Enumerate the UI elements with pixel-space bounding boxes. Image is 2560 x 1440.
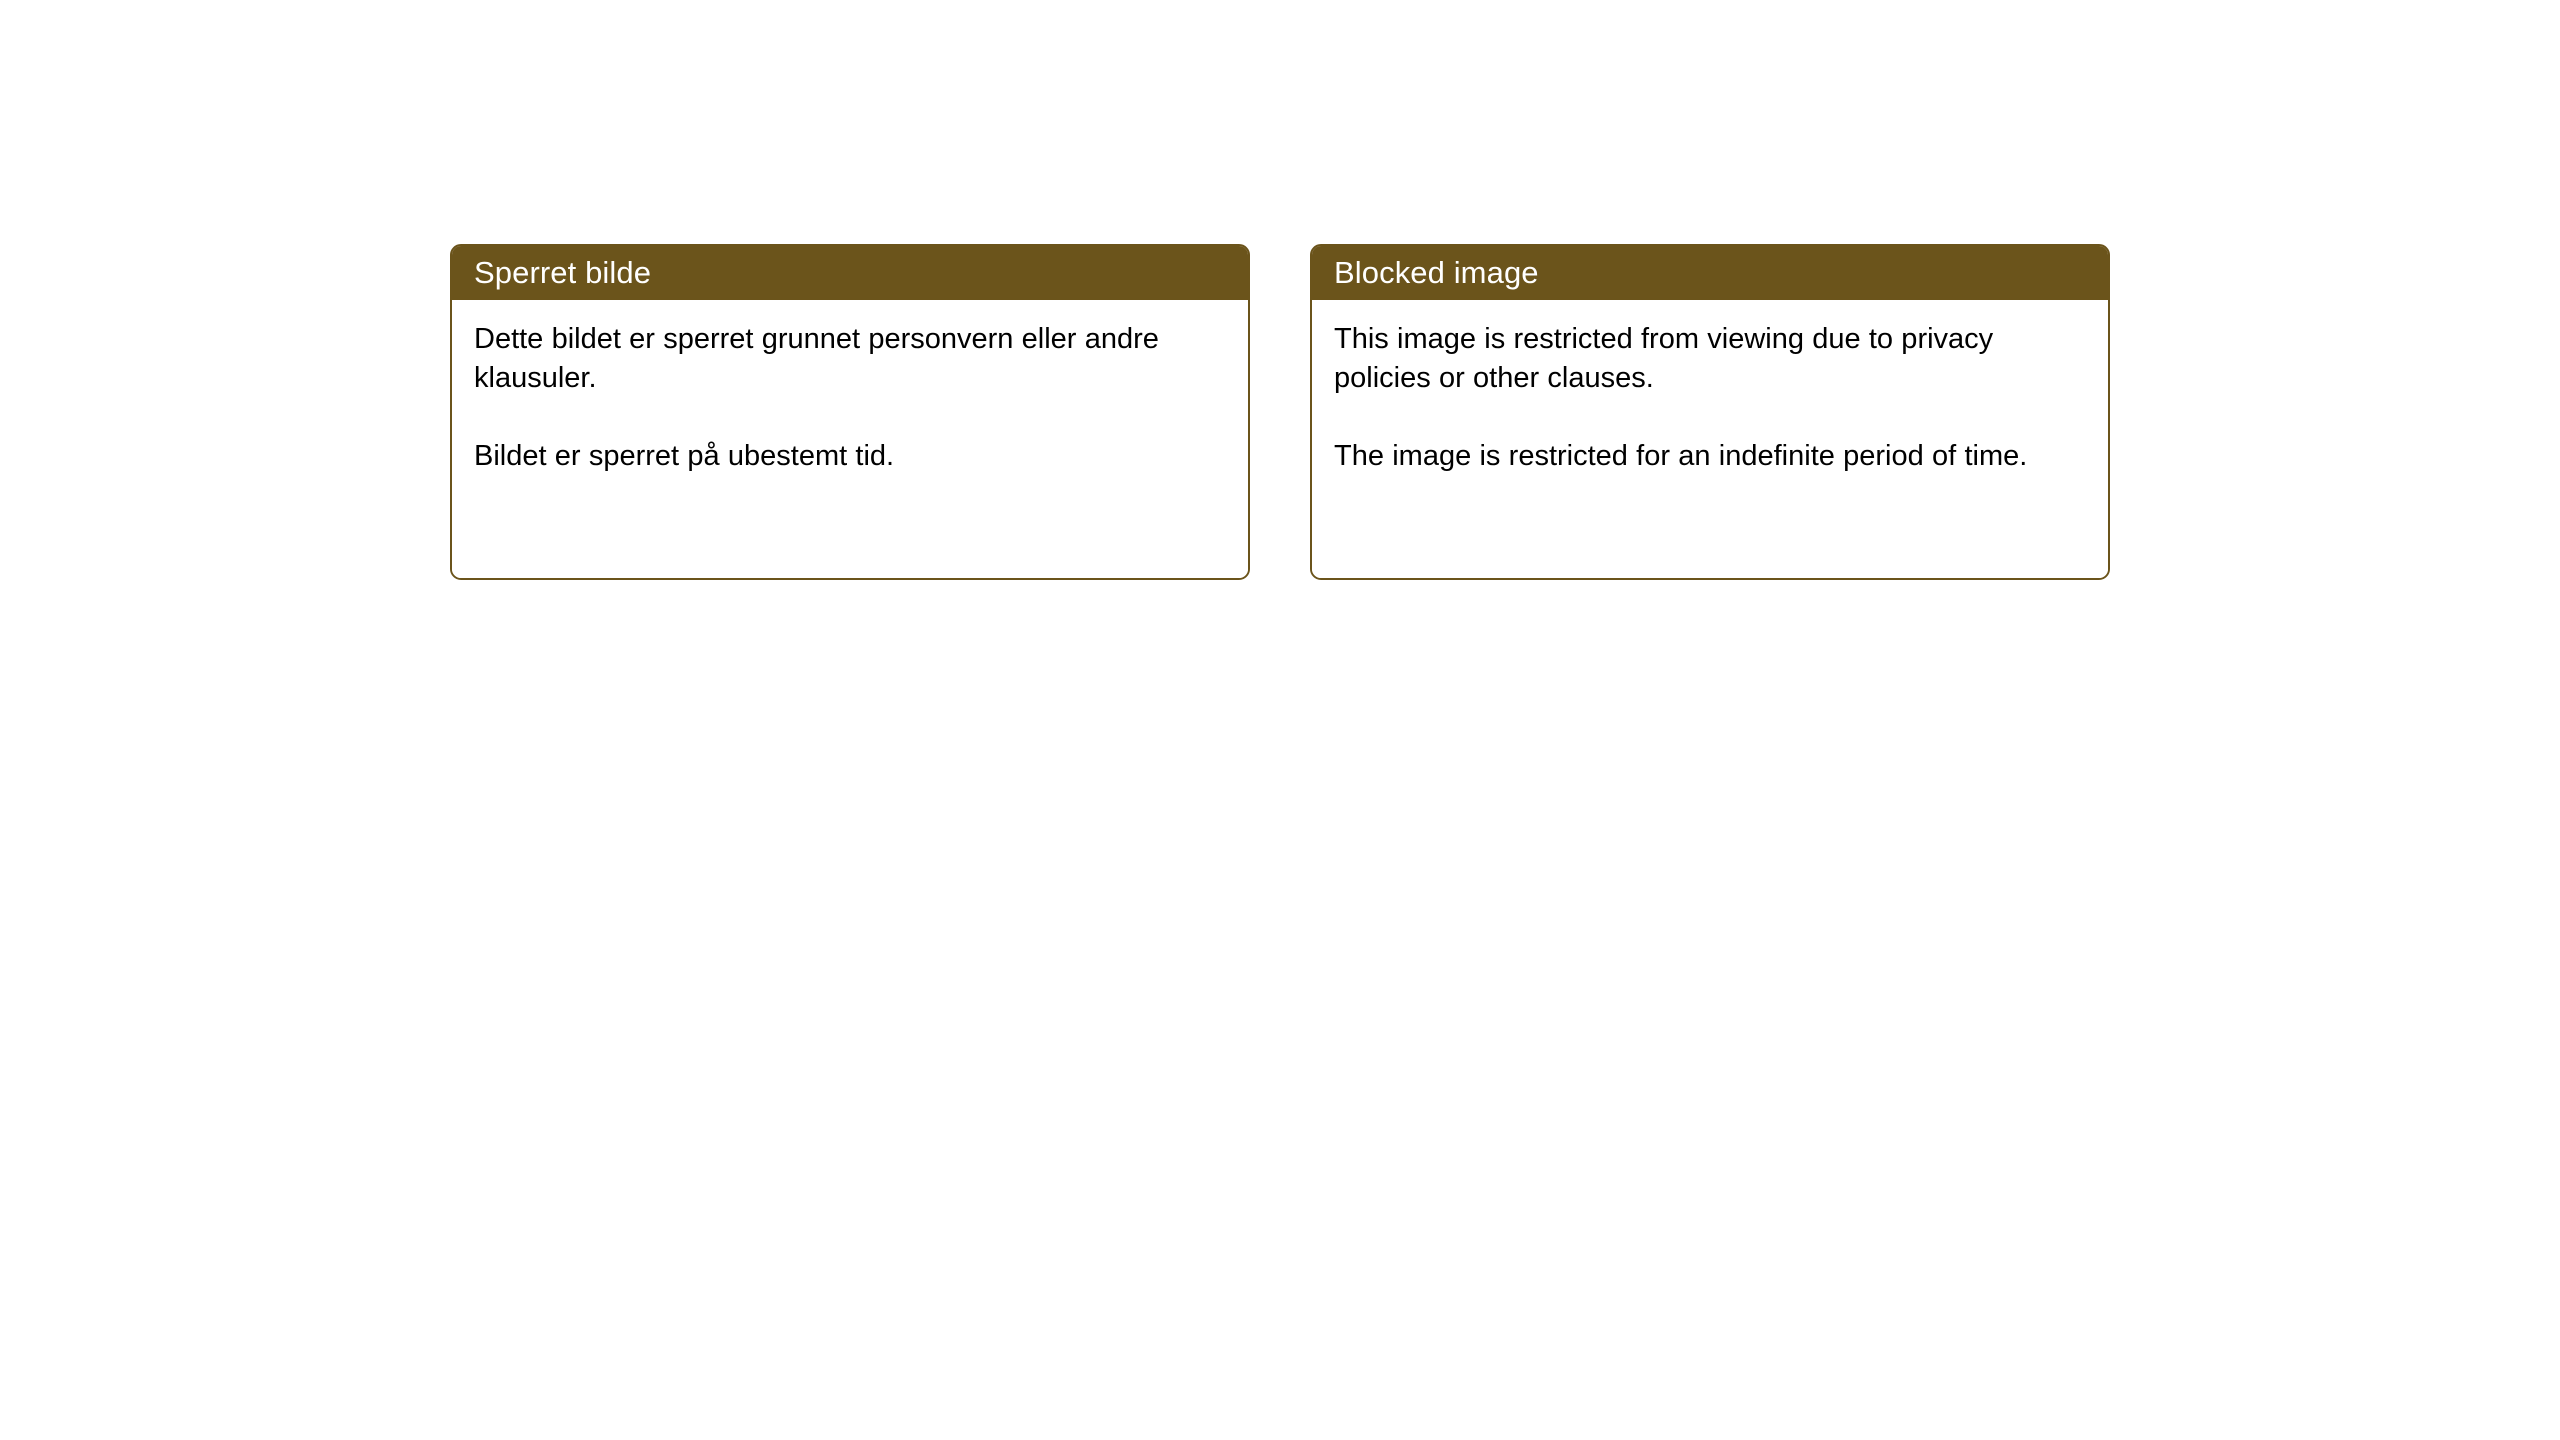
blocked-image-notice-no: Sperret bilde Dette bildet er sperret gr… bbox=[450, 244, 1250, 580]
notice-paragraph-reason-en: This image is restricted from viewing du… bbox=[1334, 320, 2034, 398]
notice-title-en: Blocked image bbox=[1334, 257, 1539, 288]
notice-header-en: Blocked image bbox=[1312, 246, 2108, 300]
notice-title-no: Sperret bilde bbox=[474, 257, 651, 288]
blocked-image-notice-en: Blocked image This image is restricted f… bbox=[1310, 244, 2110, 580]
page-canvas: Sperret bilde Dette bildet er sperret gr… bbox=[0, 0, 2560, 1440]
notice-body-no: Dette bildet er sperret grunnet personve… bbox=[452, 300, 1248, 578]
notice-paragraph-reason-no: Dette bildet er sperret grunnet personve… bbox=[474, 320, 1174, 398]
notice-body-en: This image is restricted from viewing du… bbox=[1312, 300, 2108, 578]
notice-header-no: Sperret bilde bbox=[452, 246, 1248, 300]
notice-paragraph-duration-no: Bildet er sperret på ubestemt tid. bbox=[474, 437, 1174, 476]
notice-paragraph-duration-en: The image is restricted for an indefinit… bbox=[1334, 437, 2034, 476]
